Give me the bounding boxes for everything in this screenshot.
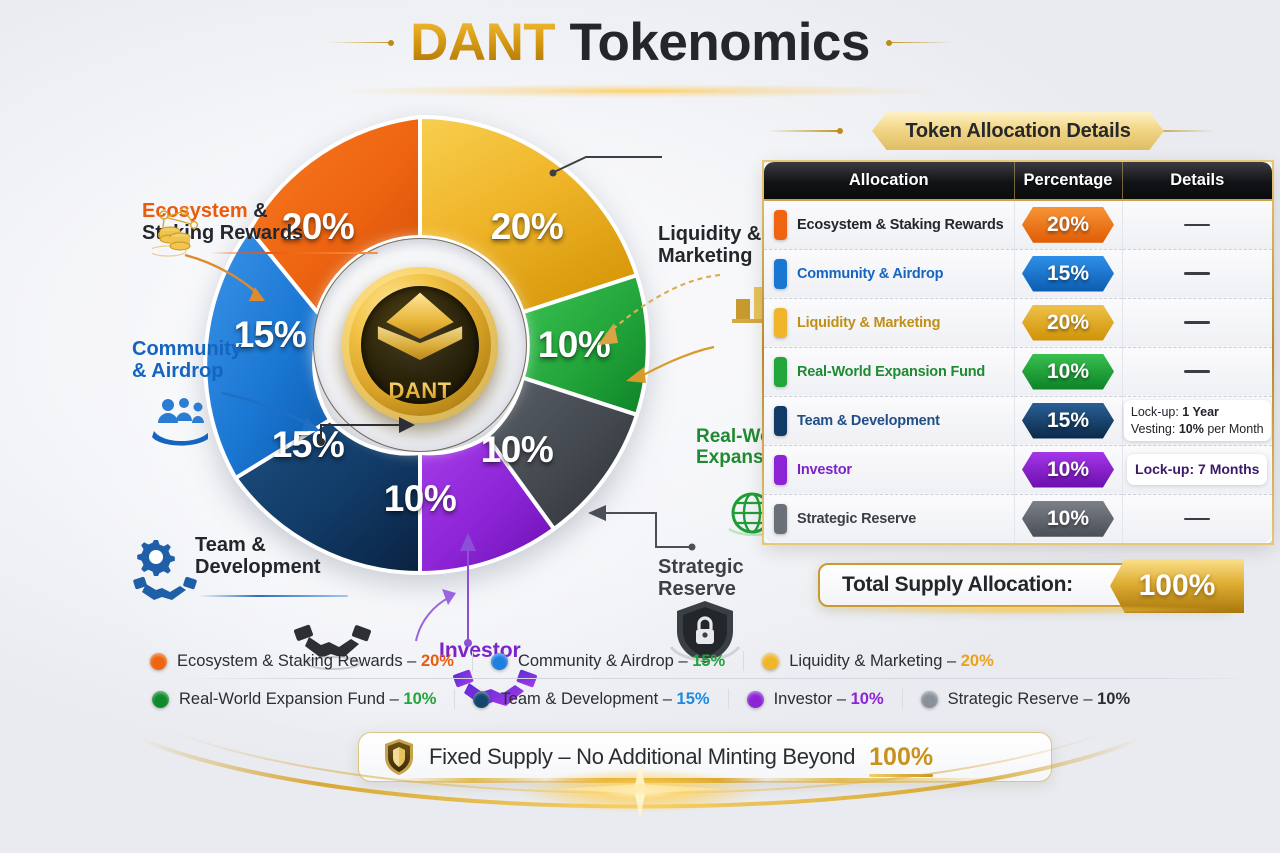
shield-icon: [383, 738, 415, 776]
callout-liquidity-line1: Liquidity &: [658, 223, 761, 245]
panel-banner: Token Allocation Details: [872, 112, 1164, 150]
row-percentage-badge: 20%: [1022, 207, 1114, 243]
legend-color-dot: [921, 691, 938, 708]
donut-center-hole: DANT: [314, 239, 526, 451]
fixed-supply-text: Fixed Supply – No Additional Minting Bey…: [429, 744, 855, 770]
legend-separator: [454, 689, 455, 709]
community-hands-icon: [148, 395, 214, 447]
column-header-details: Details: [1122, 162, 1272, 200]
row-percentage-badge: 20%: [1022, 305, 1114, 341]
legend-separator: [902, 689, 903, 709]
legend-separator: [728, 689, 729, 709]
callout-team-line1: Team &: [195, 534, 321, 556]
callout-community-line2: & Airdrop: [132, 360, 242, 382]
row-allocation-label: Ecosystem & Staking Rewards: [797, 217, 1004, 233]
legend-divider: [180, 678, 1260, 679]
donut-chart-area: 20% 10% 10% 10% 15% 15% 20%: [70, 95, 770, 625]
row-allocation-label: Liquidity & Marketing: [797, 315, 940, 331]
legend-color-dot: [152, 691, 169, 708]
fixed-supply-bar: Fixed Supply – No Additional Minting Bey…: [358, 732, 1052, 782]
table-header-row: Allocation Percentage Details: [764, 162, 1272, 200]
segment-label-investor: 10%: [384, 478, 457, 520]
callout-strategic-line1: Strategic: [658, 556, 744, 578]
row-color-chip: [774, 357, 787, 387]
row-percentage-badge: 10%: [1022, 354, 1114, 390]
column-header-allocation: Allocation: [764, 162, 1014, 200]
callout-liquidity-line2: Marketing: [658, 245, 761, 267]
row-color-chip: [774, 504, 787, 534]
legend-color-dot: [747, 691, 764, 708]
total-supply-bar: Total Supply Allocation: 100%: [818, 563, 1234, 607]
callout-liquidity: Liquidity & Marketing: [658, 223, 761, 268]
row-allocation-label: Strategic Reserve: [797, 511, 916, 527]
panel-banner-title: Token Allocation Details: [905, 120, 1130, 143]
row-color-chip: [774, 259, 787, 289]
row-percentage-badge: 15%: [1022, 256, 1114, 292]
gear-handshake-icon: [132, 538, 200, 600]
row-detail-card: Lock-up: 1 YearVesting: 10% per Month: [1124, 400, 1271, 442]
row-detail-dash: [1184, 370, 1210, 373]
allocation-table-head: Allocation Percentage Details: [764, 162, 1272, 200]
row-percentage-badge: 15%: [1022, 403, 1114, 439]
table-row[interactable]: Team & Development15%Lock-up: 1 YearVest…: [764, 396, 1272, 445]
row-percentage-badge: 10%: [1022, 501, 1114, 537]
legend-label: Real-World Expansion Fund – 10%: [179, 690, 436, 709]
table-row[interactable]: Ecosystem & Staking Rewards20%: [764, 200, 1272, 249]
callout-team-line2: Development: [195, 556, 321, 578]
legend-separator: [743, 651, 744, 671]
allocation-table: Allocation Percentage Details Ecosystem …: [764, 162, 1272, 543]
legend-row-2: Real-World Expansion Fund – 10%Team & De…: [150, 680, 1250, 718]
legend-item[interactable]: Investor – 10%: [747, 690, 884, 709]
row-allocation-label: Community & Airdrop: [797, 266, 943, 282]
callout-team: Team & Development: [195, 534, 321, 579]
legend-label: Community & Airdrop – 15%: [518, 652, 725, 671]
coins-network-icon: [152, 205, 210, 261]
row-color-chip: [774, 455, 787, 485]
column-header-percentage: Percentage: [1014, 162, 1122, 200]
dant-coin: DANT: [342, 267, 498, 423]
legend-label: Team & Development – 15%: [500, 690, 709, 709]
table-row[interactable]: Community & Airdrop15%: [764, 249, 1272, 298]
dant-chevron-logo-icon: [361, 286, 479, 375]
total-supply-shine: [830, 605, 1230, 615]
title-text: DANT Tokenomics: [410, 16, 870, 69]
legend-item[interactable]: Community & Airdrop – 15%: [491, 652, 725, 671]
coin-face: DANT: [361, 286, 479, 404]
title-brand: DANT: [410, 13, 555, 72]
allocation-table-body: Ecosystem & Staking Rewards20%Community …: [764, 200, 1272, 543]
table-row[interactable]: Real-World Expansion Fund10%: [764, 347, 1272, 396]
table-row[interactable]: Liquidity & Marketing20%: [764, 298, 1272, 347]
fixed-supply-value-text: 100%: [869, 743, 933, 771]
title-rule-right: [888, 42, 952, 44]
row-detail-dash: [1184, 518, 1210, 521]
segment-label-liquidity: 20%: [491, 206, 564, 248]
legend-item[interactable]: Liquidity & Marketing – 20%: [762, 652, 994, 671]
legend-label: Investor – 10%: [774, 690, 884, 709]
legend-label: Strategic Reserve – 10%: [948, 690, 1131, 709]
callout-community: Community & Airdrop: [132, 338, 242, 383]
title-word: Tokenomics: [570, 13, 870, 72]
callout-strategic: Strategic Reserve: [658, 556, 744, 601]
row-allocation-label: Investor: [797, 462, 852, 478]
legend-color-dot: [473, 691, 490, 708]
callout-ecosystem-underline: [210, 252, 378, 254]
total-supply-label: Total Supply Allocation:: [820, 573, 1073, 597]
row-allocation-label: Team & Development: [797, 413, 940, 429]
legend-color-dot: [491, 653, 508, 670]
fixed-supply-underglow: [400, 778, 1010, 783]
legend-label: Ecosystem & Staking Rewards – 20%: [177, 652, 454, 671]
allocation-table-box: Allocation Percentage Details Ecosystem …: [762, 160, 1274, 545]
fixed-supply-value: 100%: [869, 743, 933, 772]
legend-label: Liquidity & Marketing – 20%: [789, 652, 994, 671]
row-color-chip: [774, 308, 787, 338]
row-allocation-label: Real-World Expansion Fund: [797, 364, 985, 380]
row-color-chip: [774, 210, 787, 240]
donut-chart: 20% 10% 10% 10% 15% 15% 20%: [185, 110, 655, 580]
legend-separator: [472, 651, 473, 671]
callout-ecosystem-amp: &: [253, 200, 267, 222]
table-row[interactable]: Strategic Reserve10%: [764, 494, 1272, 543]
coin-label: DANT: [388, 378, 451, 404]
page-title: DANT Tokenomics: [0, 16, 1280, 69]
legend-color-dot: [762, 653, 779, 670]
segment-label-team: 15%: [272, 424, 345, 466]
row-percentage-badge: 10%: [1022, 452, 1114, 488]
title-rule-left: [328, 42, 392, 44]
infographic-canvas: DANT Tokenomics: [0, 0, 1280, 853]
callout-community-line1: Community: [132, 338, 242, 360]
legend-item[interactable]: Team & Development – 15%: [473, 690, 709, 709]
row-detail-dash: [1184, 224, 1210, 227]
table-row[interactable]: Investor10%Lock-up: 7 Months: [764, 445, 1272, 494]
token-allocation-panel: Token Allocation Details Allocation Perc…: [762, 112, 1274, 545]
segment-label-community: 15%: [234, 314, 307, 356]
row-detail-card: Lock-up: 7 Months: [1127, 454, 1267, 485]
legend-item[interactable]: Real-World Expansion Fund – 10%: [152, 690, 436, 709]
callout-team-underline: [198, 595, 348, 597]
legend-row-1: Ecosystem & Staking Rewards – 20%Communi…: [150, 642, 1250, 680]
legend-item[interactable]: Strategic Reserve – 10%: [921, 690, 1131, 709]
legend-item[interactable]: Ecosystem & Staking Rewards – 20%: [150, 652, 454, 671]
row-color-chip: [774, 406, 787, 436]
legend: Ecosystem & Staking Rewards – 20%Communi…: [150, 642, 1250, 718]
segment-label-realworld: 10%: [538, 324, 611, 366]
legend-color-dot: [150, 653, 167, 670]
row-detail-dash: [1184, 321, 1210, 324]
segment-label-strategic: 10%: [481, 429, 554, 471]
row-detail-dash: [1184, 272, 1210, 275]
